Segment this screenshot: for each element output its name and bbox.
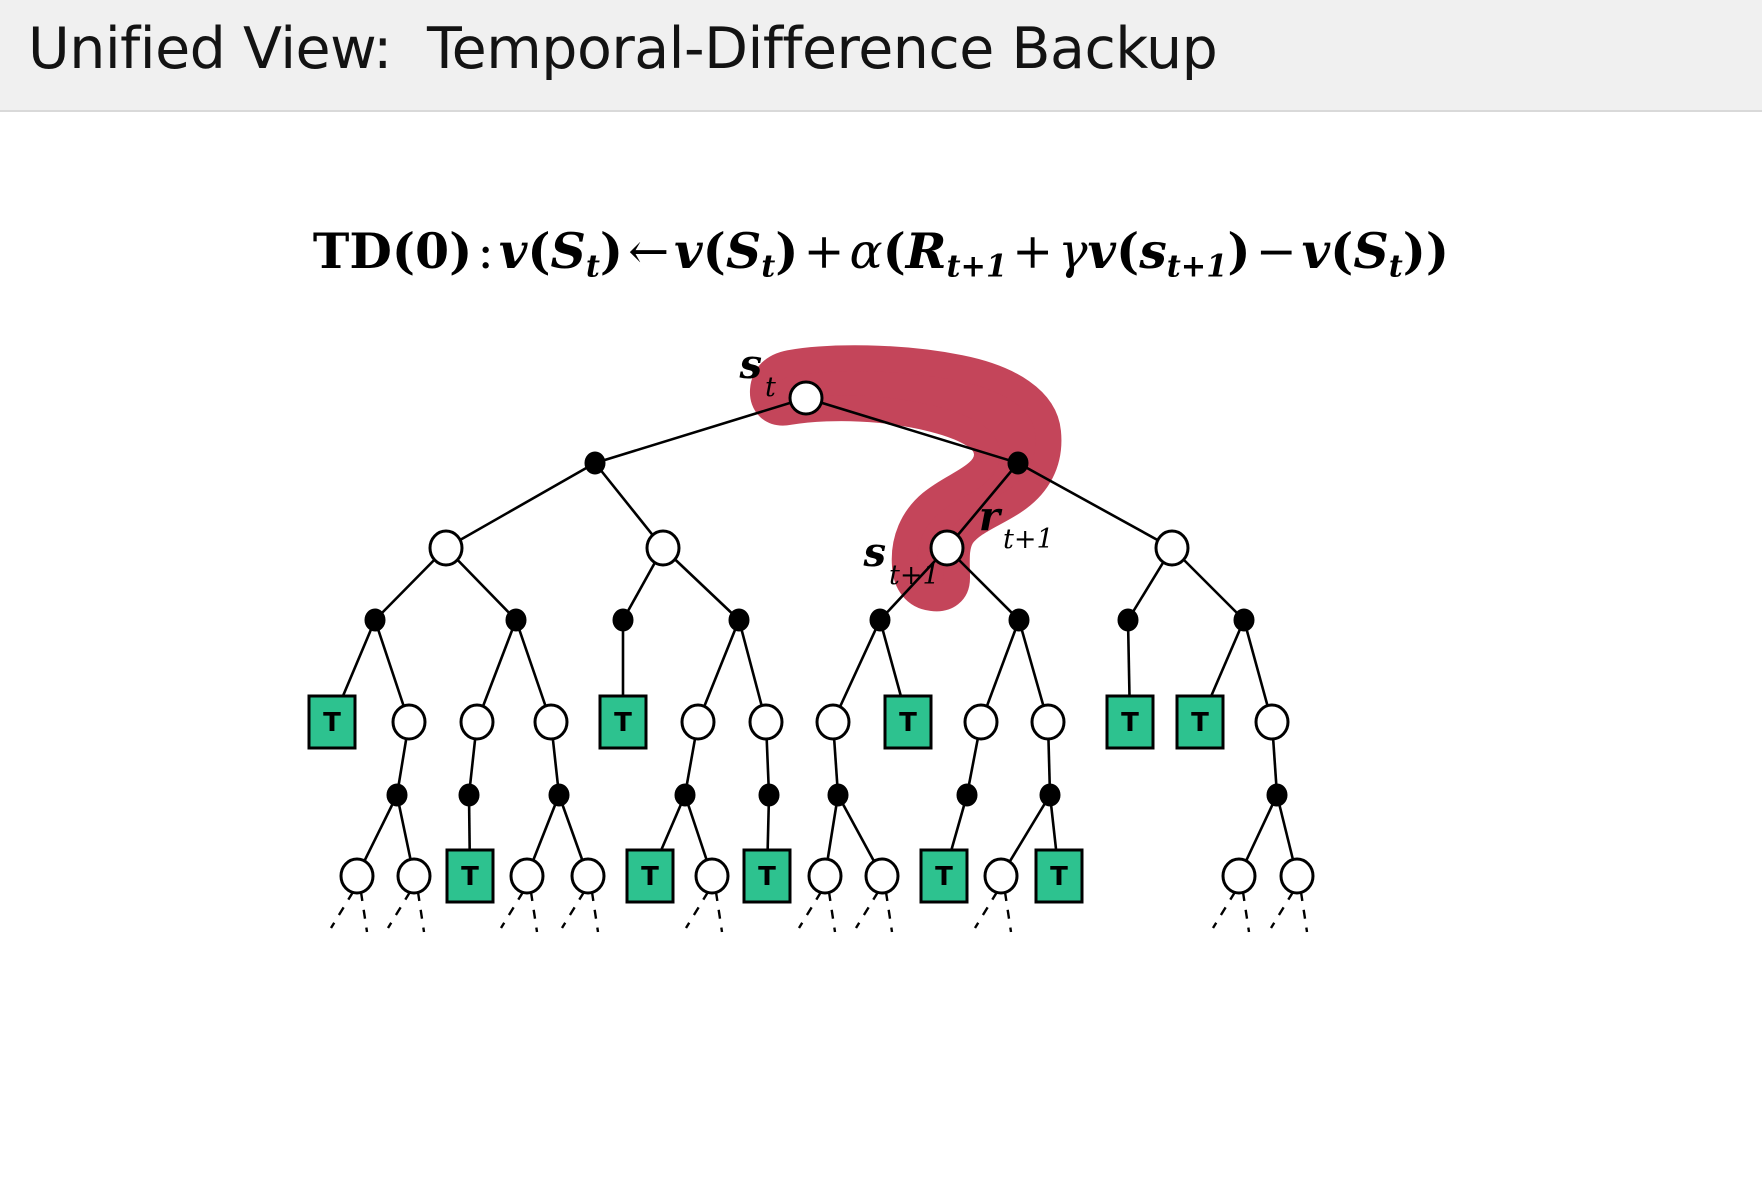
tree-edge-dashed <box>1243 892 1249 932</box>
action-node <box>459 784 479 806</box>
state-node <box>393 705 425 739</box>
tree-edge-dashed <box>1271 892 1293 928</box>
tree-edge-dashed <box>592 892 598 932</box>
next-state-label-sub: t+1 <box>889 560 940 591</box>
state-node <box>647 531 679 565</box>
state-node <box>866 859 898 893</box>
formula-plus1: + <box>798 223 849 280</box>
formula-sub-rt1: t+1 <box>947 249 1008 285</box>
tree-edge-dashed <box>1301 892 1307 932</box>
action-node <box>675 784 695 806</box>
terminal-node-label: T <box>614 708 632 738</box>
formula-open1: ( <box>527 222 550 280</box>
state-node <box>750 705 782 739</box>
action-node <box>1267 784 1287 806</box>
formula-paren-close: ) <box>449 222 472 280</box>
formula-S2: S <box>726 222 761 280</box>
formula-v2: v <box>674 222 702 280</box>
page-title: Unified View: Temporal-Difference Backup <box>28 16 1217 82</box>
action-node <box>506 609 526 631</box>
state-node <box>461 705 493 739</box>
formula-S3: S <box>1353 222 1388 280</box>
node-layer: TTTTTTTTTT <box>309 382 1313 902</box>
formula-close4: ) <box>1227 222 1250 280</box>
state-node <box>817 705 849 739</box>
root-state-label-base: s <box>738 341 762 388</box>
formula-td: TD <box>313 222 392 280</box>
terminal-node-label: T <box>1191 708 1209 738</box>
tree-edge-dashed <box>975 892 997 928</box>
tree-edge-dashed <box>856 892 878 928</box>
tree-edge-dashed <box>716 892 722 932</box>
action-node <box>828 784 848 806</box>
action-node <box>1234 609 1254 631</box>
action-node <box>365 609 385 631</box>
formula-minus: − <box>1251 223 1302 280</box>
formula-paren: ( <box>392 222 415 280</box>
state-node <box>985 859 1017 893</box>
tree-edge-dashed <box>501 892 523 928</box>
formula-sub-t1: t <box>586 249 600 285</box>
tree-edge-dashed <box>829 892 835 932</box>
formula-v4: v <box>1302 222 1330 280</box>
state-node <box>1156 531 1188 565</box>
action-node <box>585 452 605 474</box>
formula-R: R <box>906 222 947 280</box>
formula-gamma: γ <box>1058 223 1087 280</box>
backup-diagram-svg: TTTTTTTTTT stst+1rt+1 <box>0 320 1762 1000</box>
terminal-node-label: T <box>758 862 776 892</box>
tree-edge-dashed <box>418 892 424 932</box>
tree-edge-dashed <box>799 892 821 928</box>
formula-alpha: α <box>850 223 883 280</box>
formula-zero: 0 <box>415 222 449 280</box>
state-node <box>1223 859 1255 893</box>
slide-canvas: Unified View: Temporal-Difference Backup… <box>0 0 1762 1182</box>
formula-S1: S <box>551 222 586 280</box>
action-node <box>613 609 633 631</box>
tree-edge-dashed <box>331 892 353 928</box>
tree-edge-dashed <box>388 892 410 928</box>
state-node <box>790 382 822 414</box>
state-node <box>430 531 462 565</box>
formula-arrow: ← <box>623 223 674 280</box>
reward-label-base: r <box>979 493 1003 540</box>
action-node <box>1008 452 1028 474</box>
formula-v1: v <box>499 222 527 280</box>
action-node <box>957 784 977 806</box>
state-node <box>1256 705 1288 739</box>
state-node <box>682 705 714 739</box>
action-node <box>759 784 779 806</box>
state-node <box>398 859 430 893</box>
terminal-node-label: T <box>323 708 341 738</box>
tree-edge-dashed <box>686 892 708 928</box>
action-node <box>1118 609 1138 631</box>
tree-edge-dashed <box>1213 892 1235 928</box>
next-state-label-base: s <box>862 529 886 576</box>
state-node <box>572 859 604 893</box>
action-node <box>870 609 890 631</box>
formula-open4: ( <box>1116 222 1139 280</box>
state-node <box>1032 705 1064 739</box>
formula-close2: ) <box>775 222 798 280</box>
tree-edge-dashed <box>361 892 367 932</box>
reward-label-sub: t+1 <box>1003 524 1054 555</box>
terminal-node-label: T <box>1121 708 1139 738</box>
formula-close1: ) <box>600 222 623 280</box>
tree-edge-dashed <box>562 892 584 928</box>
action-node <box>1009 609 1029 631</box>
root-state-label-sub: t <box>765 372 776 403</box>
formula-s-lower: s <box>1139 222 1167 280</box>
formula-colon: : <box>472 223 499 280</box>
td-update-formula: TD(0):v(St)←v(St)+α(Rt+1+γv(st+1)−v(St)) <box>0 222 1762 285</box>
terminal-node-label: T <box>641 862 659 892</box>
terminal-node-label: T <box>899 708 917 738</box>
state-node <box>341 859 373 893</box>
terminal-node-label: T <box>461 862 479 892</box>
terminal-node-label: T <box>1050 862 1068 892</box>
terminal-node-label: T <box>935 862 953 892</box>
formula-v3: v <box>1088 222 1116 280</box>
formula-sub-st1: t+1 <box>1167 249 1228 285</box>
tree-edge <box>446 463 595 548</box>
state-node <box>535 705 567 739</box>
formula-open3: ( <box>883 222 906 280</box>
formula-plus2: + <box>1007 223 1058 280</box>
formula-sub-t2: t <box>761 249 775 285</box>
action-node <box>549 784 569 806</box>
formula-close5: )) <box>1403 222 1449 280</box>
state-node <box>696 859 728 893</box>
tree-edge <box>595 398 806 463</box>
formula-open5: ( <box>1330 222 1353 280</box>
state-node <box>809 859 841 893</box>
action-node <box>387 784 407 806</box>
tree-edge-dashed <box>886 892 892 932</box>
tree-edge-dashed <box>531 892 537 932</box>
tree-edge-dashed <box>1005 892 1011 932</box>
action-node <box>729 609 749 631</box>
state-node <box>511 859 543 893</box>
formula-open2: ( <box>703 222 726 280</box>
action-node <box>1040 784 1060 806</box>
state-node <box>1281 859 1313 893</box>
backup-diagram: TTTTTTTTTT stst+1rt+1 <box>0 320 1762 1000</box>
state-node <box>965 705 997 739</box>
slide-title-bar: Unified View: Temporal-Difference Backup <box>0 0 1762 112</box>
formula-sub-t3: t <box>1389 249 1403 285</box>
